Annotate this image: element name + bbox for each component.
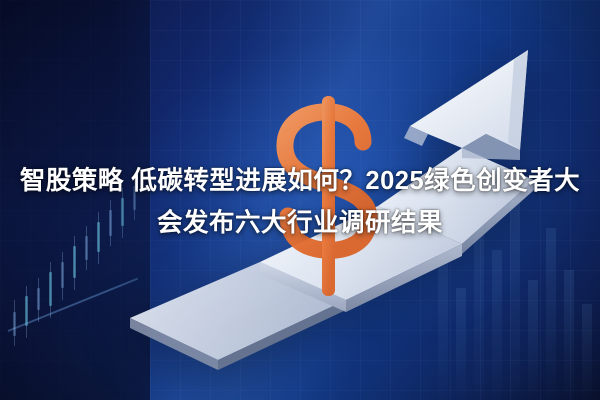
image-canvas: 智股策略 低碳转型进展如何？2025绿色创变者大会发布六大行业调研结果 xyxy=(0,0,600,400)
headline-text: 智股策略 低碳转型进展如何？2025绿色创变者大会发布六大行业调研结果 xyxy=(14,160,586,244)
